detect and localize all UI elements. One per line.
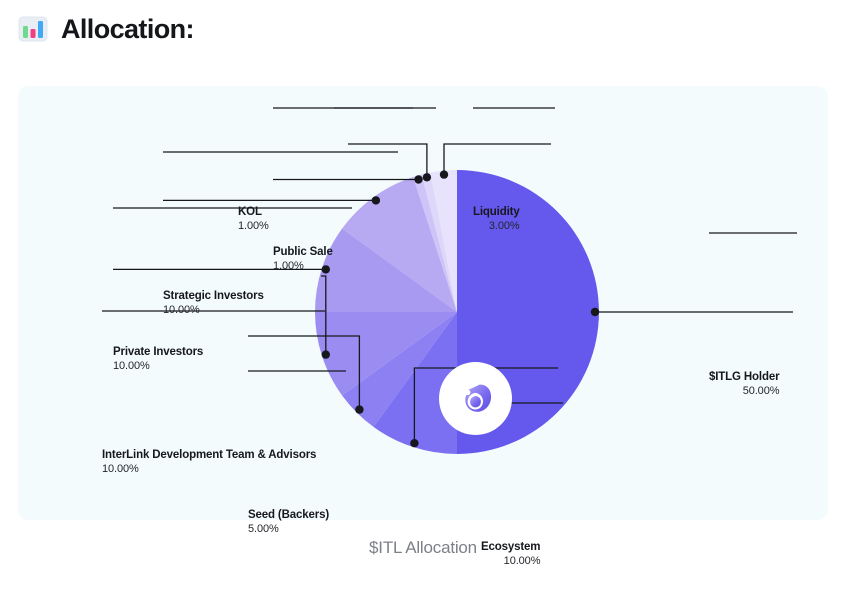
- callout-label-itlg-holder: $ITLG Holder 50.00%: [709, 370, 779, 399]
- callout-label-seed-backers: Seed (Backers) 5.00%: [248, 508, 329, 537]
- callout-label-private-investors: Private Investors 10.00%: [113, 345, 203, 374]
- page-title: Allocation:: [61, 16, 194, 43]
- callout-dot: [410, 439, 418, 447]
- callout-label-interlink-dev-team: InterLink Development Team & Advisors 10…: [102, 448, 316, 477]
- callout-dot: [372, 196, 380, 204]
- callout-dot: [414, 175, 422, 183]
- allocation-page: Allocation:: [0, 0, 846, 592]
- callout-label-liquidity: Liquidity 3.00%: [473, 205, 520, 234]
- center-logo-badge: [439, 362, 512, 435]
- chart-caption: $ITL Allocation: [0, 538, 846, 558]
- callout-leader: [163, 196, 380, 204]
- callout-label-strategic-investors: Strategic Investors 10.00%: [163, 289, 264, 318]
- pie-chart: KOL 1.00% Liquidity 3.00% Public Sale 1.…: [18, 86, 828, 520]
- callout-label-public-sale: Public Sale 1.00%: [273, 245, 333, 274]
- callout-dot: [322, 350, 330, 358]
- callout-dot: [440, 170, 448, 178]
- bar-chart-icon: [18, 14, 48, 44]
- page-header: Allocation:: [18, 14, 194, 44]
- callout-dot: [591, 308, 599, 316]
- callout-label-kol: KOL 1.00%: [238, 205, 269, 234]
- callout-dot: [423, 173, 431, 181]
- callout-leader: [591, 308, 793, 316]
- callout-dot: [355, 405, 363, 413]
- allocation-chart-panel: KOL 1.00% Liquidity 3.00% Public Sale 1.…: [18, 86, 828, 520]
- interlink-droplet-logo: [455, 378, 497, 420]
